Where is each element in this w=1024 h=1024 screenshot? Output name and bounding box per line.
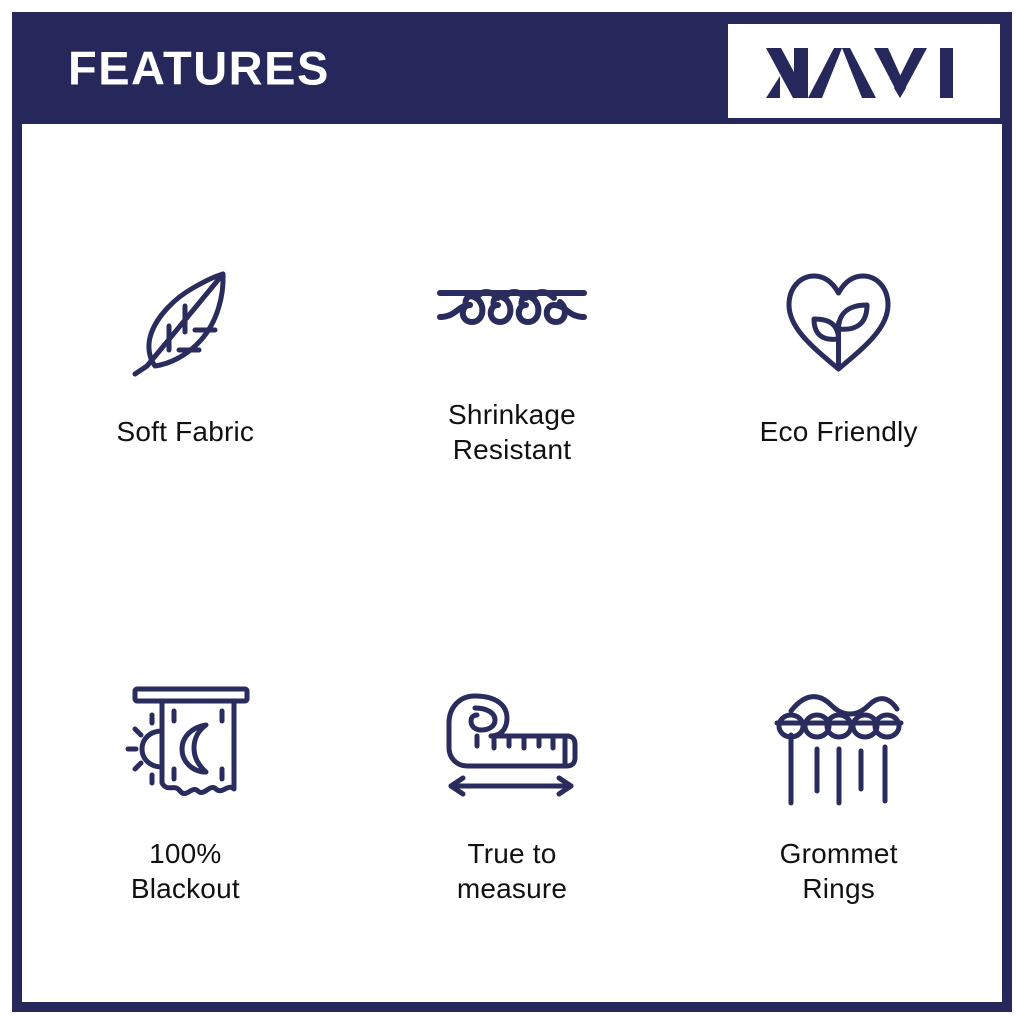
feature-label: Eco Friendly — [760, 414, 918, 449]
heart-sprout-icon — [781, 252, 896, 392]
feature-label: Grommet Rings — [780, 836, 898, 906]
header-band: FEATURES — [12, 12, 1012, 124]
feature-card-soft-fabric[interactable]: Soft Fabric — [22, 238, 349, 449]
measuring-tape-icon — [439, 674, 584, 814]
feature-card-grommet-rings[interactable]: Grommet Rings — [675, 660, 1002, 906]
feature-label: Soft Fabric — [117, 414, 255, 449]
navi-wordmark-icon — [764, 40, 964, 102]
feature-label: 100% Blackout — [131, 836, 240, 906]
rope-twist-icon — [432, 235, 592, 375]
page-title: FEATURES — [68, 45, 330, 92]
infographic-page: FEATURES — [0, 0, 1024, 1024]
feature-label: Shrinkage Resistant — [448, 397, 576, 467]
feature-label: True to measure — [457, 836, 567, 906]
feather-icon — [125, 252, 245, 392]
logo-box — [728, 24, 1000, 118]
grommet-rings-icon — [769, 674, 909, 814]
features-grid: Soft Fabric — [22, 124, 1002, 1002]
feature-card-eco-friendly[interactable]: Eco Friendly — [675, 238, 1002, 449]
feature-card-shrinkage-resistant[interactable]: Shrinkage Resistant — [349, 221, 676, 467]
curtain-sun-moon-icon — [110, 674, 260, 814]
feature-card-blackout[interactable]: 100% Blackout — [22, 660, 349, 906]
feature-card-true-to-measure[interactable]: True to measure — [349, 660, 676, 906]
